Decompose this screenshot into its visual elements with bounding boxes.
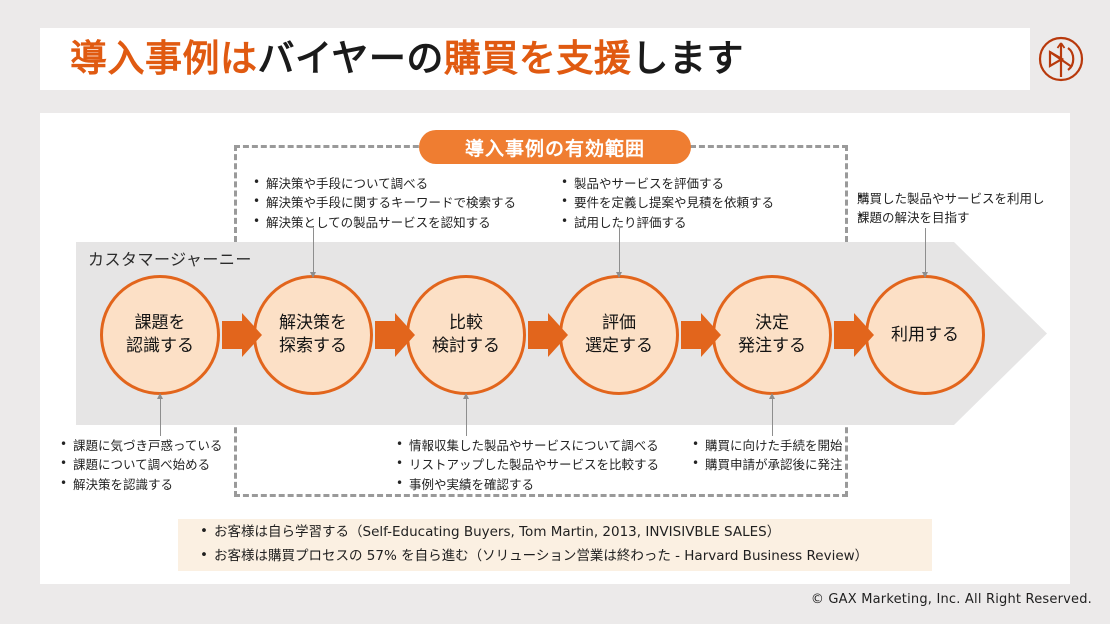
callout-item: 購買した製品やサービスを利用し [857,189,1045,208]
stage-label-5: 決定発注する [738,312,806,358]
stage-label-3: 比較検討する [432,312,500,358]
leader-line-awareness [160,398,161,436]
leader-line-decision [772,398,773,436]
stage-label-6: 利用する [891,324,959,347]
stage-circle-2[interactable]: 解決策を探索する [253,275,373,395]
stage-label-4: 評価選定する [585,312,653,358]
callout-use: 購買した製品やサービスを利用し 課題の解決を目指す [857,189,1045,228]
gax-bow-mark-icon [1035,33,1087,85]
callout-item: 製品やサービスを評価する [561,174,774,193]
slide-root: 導入事例はバイヤーの購買を支援します 導入事例の有効範囲 カスタマージャーニー … [0,0,1110,624]
callout-item: 試用したり評価する [561,213,774,232]
callout-item: 課題に気づき戸惑っている [60,436,222,455]
callout-item: 解決策や手段について調べる [253,174,516,193]
stage-circle-5[interactable]: 決定発注する [712,275,832,395]
callout-explore: 解決策や手段について調べる 解決策や手段に関するキーワードで検索する 解決策とし… [253,174,516,232]
title-segment-1: 導入事例は [70,37,258,80]
callout-item: 解決策を認識する [60,475,222,494]
callout-item: 購買に向けた手続を開始 [692,436,843,455]
callout-item: 購買申請が承認後に発注 [692,455,843,474]
callout-awareness: 課題に気づき戸惑っている 課題について調べ始める 解決策を認識する [60,436,222,494]
customer-journey-label: カスタマージャーニー [88,246,252,270]
callout-decision: 購買に向けた手続を開始 購買申請が承認後に発注 [692,436,843,475]
callout-item: 情報収集した製品やサービスについて調べる [396,436,659,455]
callout-compare: 情報収集した製品やサービスについて調べる リストアップした製品やサービスを比較す… [396,436,659,494]
stage-label-1: 課題を認識する [126,312,194,358]
stage-label-2: 解決策を探索する [279,312,347,358]
callout-item: 解決策としての製品サービスを認知する [253,213,516,232]
citation-line-2: お客様は購買プロセスの 57% を自ら進む（ソリューション営業は終わった - H… [200,545,932,569]
copyright-footer: © GAX Marketing, Inc. All Right Reserved… [811,592,1092,607]
stage-circle-4[interactable]: 評価選定する [559,275,679,395]
leader-line-compare [466,398,467,436]
citations-box: お客様は自ら学習する（Self-Educating Buyers, Tom Ma… [178,519,932,571]
callout-item: 課題について調べ始める [60,455,222,474]
leader-line-explore [313,228,314,273]
callout-item: 課題の解決を目指す [857,208,1045,227]
stage-circle-3[interactable]: 比較検討する [406,275,526,395]
title-segment-4: します [631,37,744,80]
callout-item: リストアップした製品やサービスを比較する [396,455,659,474]
callout-item: 解決策や手段に関するキーワードで検索する [253,193,516,212]
citation-line-1: お客様は自ら学習する（Self-Educating Buyers, Tom Ma… [200,521,932,545]
stage-circle-1[interactable]: 課題を認識する [100,275,220,395]
callout-item: 要件を定義し提案や見積を依頼する [561,193,774,212]
title-segment-2: バイヤーの [258,37,444,80]
leader-line-use [925,228,926,273]
title-segment-3: 購買を支援 [444,37,632,80]
brand-logo [1030,28,1092,90]
stage-circle-6[interactable]: 利用する [865,275,985,395]
page-title: 導入事例はバイヤーの購買を支援します [70,34,744,84]
callout-evaluate: 製品やサービスを評価する 要件を定義し提案や見積を依頼する 試用したり評価する [561,174,774,232]
callout-item: 事例や実績を確認する [396,475,659,494]
leader-line-evaluate [619,228,620,273]
scope-badge: 導入事例の有効範囲 [419,130,691,164]
